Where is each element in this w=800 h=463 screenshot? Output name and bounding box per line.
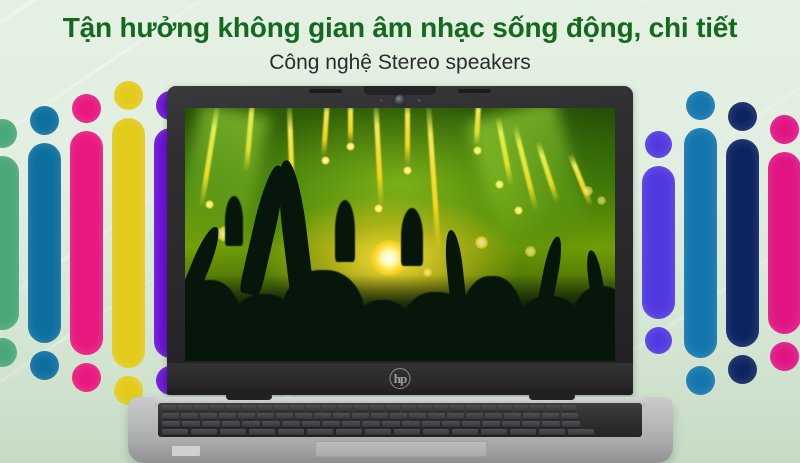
keyboard-key[interactable] bbox=[539, 429, 565, 435]
keyboard-key[interactable] bbox=[202, 421, 220, 427]
keyboard-key[interactable] bbox=[338, 405, 352, 411]
keyboard-key[interactable] bbox=[295, 413, 312, 419]
keyboard-key[interactable] bbox=[466, 413, 483, 419]
keyboard-key[interactable] bbox=[242, 421, 260, 427]
keyboard-key[interactable] bbox=[210, 405, 224, 411]
keyboard-key[interactable] bbox=[482, 405, 496, 411]
keyboard-key[interactable] bbox=[542, 413, 559, 419]
keyboard-key[interactable] bbox=[450, 405, 464, 411]
webcam-icon bbox=[395, 95, 406, 106]
keyboard-key[interactable] bbox=[546, 405, 560, 411]
keyboard-key[interactable] bbox=[282, 421, 300, 427]
bar-pink-dot-top bbox=[770, 115, 799, 144]
keyboard-key[interactable] bbox=[442, 421, 460, 427]
bar-magenta-dot-bottom bbox=[72, 363, 101, 392]
keyboard[interactable] bbox=[158, 403, 642, 437]
bar-pink-bar bbox=[768, 152, 800, 334]
keyboard-key[interactable] bbox=[322, 421, 340, 427]
keyboard-key[interactable] bbox=[258, 405, 272, 411]
keyboard-row bbox=[162, 405, 638, 411]
bar-magenta-bar bbox=[70, 131, 103, 355]
banner-canvas: Tận hưởng không gian âm nhạc sống động, … bbox=[0, 0, 800, 463]
keyboard-row bbox=[162, 421, 638, 427]
hinge-right bbox=[529, 393, 575, 400]
keyboard-key[interactable] bbox=[182, 421, 200, 427]
bezel-notch bbox=[364, 86, 436, 95]
bar-green-bar bbox=[0, 156, 19, 330]
banner-headings: Tận hưởng không gian âm nhạc sống động, … bbox=[0, 0, 800, 74]
keyboard-key[interactable] bbox=[522, 421, 540, 427]
banner-subtitle: Công nghệ Stereo speakers bbox=[0, 42, 800, 74]
keyboard-key[interactable] bbox=[466, 405, 480, 411]
keyboard-key[interactable] bbox=[162, 405, 176, 411]
laptop-lid: hp bbox=[167, 86, 633, 395]
keyboard-key[interactable] bbox=[423, 429, 449, 435]
keyboard-key[interactable] bbox=[276, 413, 293, 419]
bar-teal-dot-top bbox=[30, 106, 59, 135]
keyboard-key[interactable] bbox=[422, 421, 440, 427]
bar-teal-bar bbox=[28, 143, 61, 343]
microphone-slot-right-icon bbox=[458, 89, 491, 93]
keyboard-key[interactable] bbox=[514, 405, 528, 411]
keyboard-key[interactable] bbox=[462, 421, 480, 427]
bar-steelblue-bar bbox=[684, 128, 717, 358]
keyboard-key[interactable] bbox=[322, 405, 336, 411]
keyboard-key[interactable] bbox=[200, 413, 217, 419]
keyboard-key[interactable] bbox=[371, 413, 388, 419]
keyboard-key[interactable] bbox=[568, 429, 594, 435]
keyboard-key[interactable] bbox=[191, 429, 217, 435]
keyboard-key[interactable] bbox=[222, 421, 240, 427]
keyboard-key[interactable] bbox=[418, 405, 432, 411]
spec-sticker bbox=[172, 446, 200, 456]
keyboard-key[interactable] bbox=[307, 429, 333, 435]
keyboard-key[interactable] bbox=[402, 421, 420, 427]
keyboard-row bbox=[162, 429, 638, 435]
keyboard-key[interactable] bbox=[352, 413, 369, 419]
keyboard-key[interactable] bbox=[314, 413, 331, 419]
keyboard-key[interactable] bbox=[262, 421, 280, 427]
keyboard-key[interactable] bbox=[390, 413, 407, 419]
keyboard-key[interactable] bbox=[386, 405, 400, 411]
keyboard-key[interactable] bbox=[194, 405, 208, 411]
keyboard-key[interactable] bbox=[447, 413, 464, 419]
microphone-slot-left-icon bbox=[309, 89, 342, 93]
keyboard-key[interactable] bbox=[542, 421, 560, 427]
keyboard-key[interactable] bbox=[242, 405, 256, 411]
bar-navy-dot-bottom bbox=[728, 355, 757, 384]
screen-scene bbox=[185, 108, 615, 361]
keyboard-key[interactable] bbox=[394, 429, 420, 435]
keyboard-key[interactable] bbox=[302, 421, 320, 427]
keyboard-key[interactable] bbox=[249, 429, 275, 435]
laptop-base bbox=[128, 377, 673, 463]
keyboard-key[interactable] bbox=[342, 421, 360, 427]
keyboard-key[interactable] bbox=[504, 413, 521, 419]
keyboard-key[interactable] bbox=[333, 413, 350, 419]
banner-title: Tận hưởng không gian âm nhạc sống động, … bbox=[0, 0, 800, 42]
keyboard-key[interactable] bbox=[481, 429, 507, 435]
laptop-screen bbox=[185, 108, 615, 361]
keyboard-key[interactable] bbox=[523, 413, 540, 419]
keyboard-key[interactable] bbox=[181, 413, 198, 419]
keyboard-key[interactable] bbox=[428, 413, 445, 419]
keyboard-key[interactable] bbox=[274, 405, 288, 411]
keyboard-key[interactable] bbox=[220, 429, 246, 435]
laptop-deck bbox=[128, 397, 673, 463]
bar-navy-bar bbox=[726, 139, 759, 347]
keyboard-key[interactable] bbox=[530, 405, 544, 411]
keyboard-key[interactable] bbox=[290, 405, 304, 411]
keyboard-key[interactable] bbox=[434, 405, 448, 411]
keyboard-key[interactable] bbox=[562, 421, 580, 427]
keyboard-key[interactable] bbox=[336, 429, 362, 435]
keyboard-key[interactable] bbox=[362, 421, 380, 427]
keyboard-key[interactable] bbox=[402, 405, 416, 411]
bar-steelblue-dot-top bbox=[686, 91, 715, 120]
bar-green-dot-top bbox=[0, 119, 17, 148]
keyboard-key[interactable] bbox=[510, 429, 536, 435]
keyboard-key[interactable] bbox=[485, 413, 502, 419]
keyboard-key[interactable] bbox=[409, 413, 426, 419]
keyboard-key[interactable] bbox=[226, 405, 240, 411]
keyboard-key[interactable] bbox=[257, 413, 274, 419]
keyboard-key[interactable] bbox=[498, 405, 512, 411]
keyboard-key[interactable] bbox=[482, 421, 500, 427]
keyboard-key[interactable] bbox=[162, 421, 180, 427]
hinge-left bbox=[226, 393, 272, 400]
keyboard-key[interactable] bbox=[382, 421, 400, 427]
bar-magenta-dot-top bbox=[72, 94, 101, 123]
bar-teal-dot-bottom bbox=[30, 351, 59, 380]
keyboard-key[interactable] bbox=[306, 405, 320, 411]
keyboard-key[interactable] bbox=[452, 429, 478, 435]
bar-steelblue-dot-bottom bbox=[686, 366, 715, 395]
keyboard-key[interactable] bbox=[178, 405, 192, 411]
keyboard-key[interactable] bbox=[162, 429, 188, 435]
camera-indicator-icon bbox=[380, 99, 383, 102]
keyboard-key[interactable] bbox=[562, 405, 576, 411]
keyboard-row bbox=[162, 413, 638, 419]
keyboard-key[interactable] bbox=[354, 405, 368, 411]
bar-navy-dot-top bbox=[728, 102, 757, 131]
trackpad[interactable] bbox=[315, 441, 487, 457]
keyboard-key[interactable] bbox=[502, 421, 520, 427]
keyboard-key[interactable] bbox=[162, 413, 179, 419]
keyboard-key[interactable] bbox=[278, 429, 304, 435]
keyboard-key[interactable] bbox=[219, 413, 236, 419]
laptop-product-image: hp bbox=[128, 86, 673, 463]
keyboard-key[interactable] bbox=[365, 429, 391, 435]
keyboard-key[interactable] bbox=[370, 405, 384, 411]
keyboard-key[interactable] bbox=[561, 413, 578, 419]
camera-sensor-icon bbox=[418, 99, 421, 102]
bar-green-dot-bottom bbox=[0, 338, 17, 367]
bar-pink-dot-bottom bbox=[770, 342, 799, 371]
keyboard-key[interactable] bbox=[238, 413, 255, 419]
